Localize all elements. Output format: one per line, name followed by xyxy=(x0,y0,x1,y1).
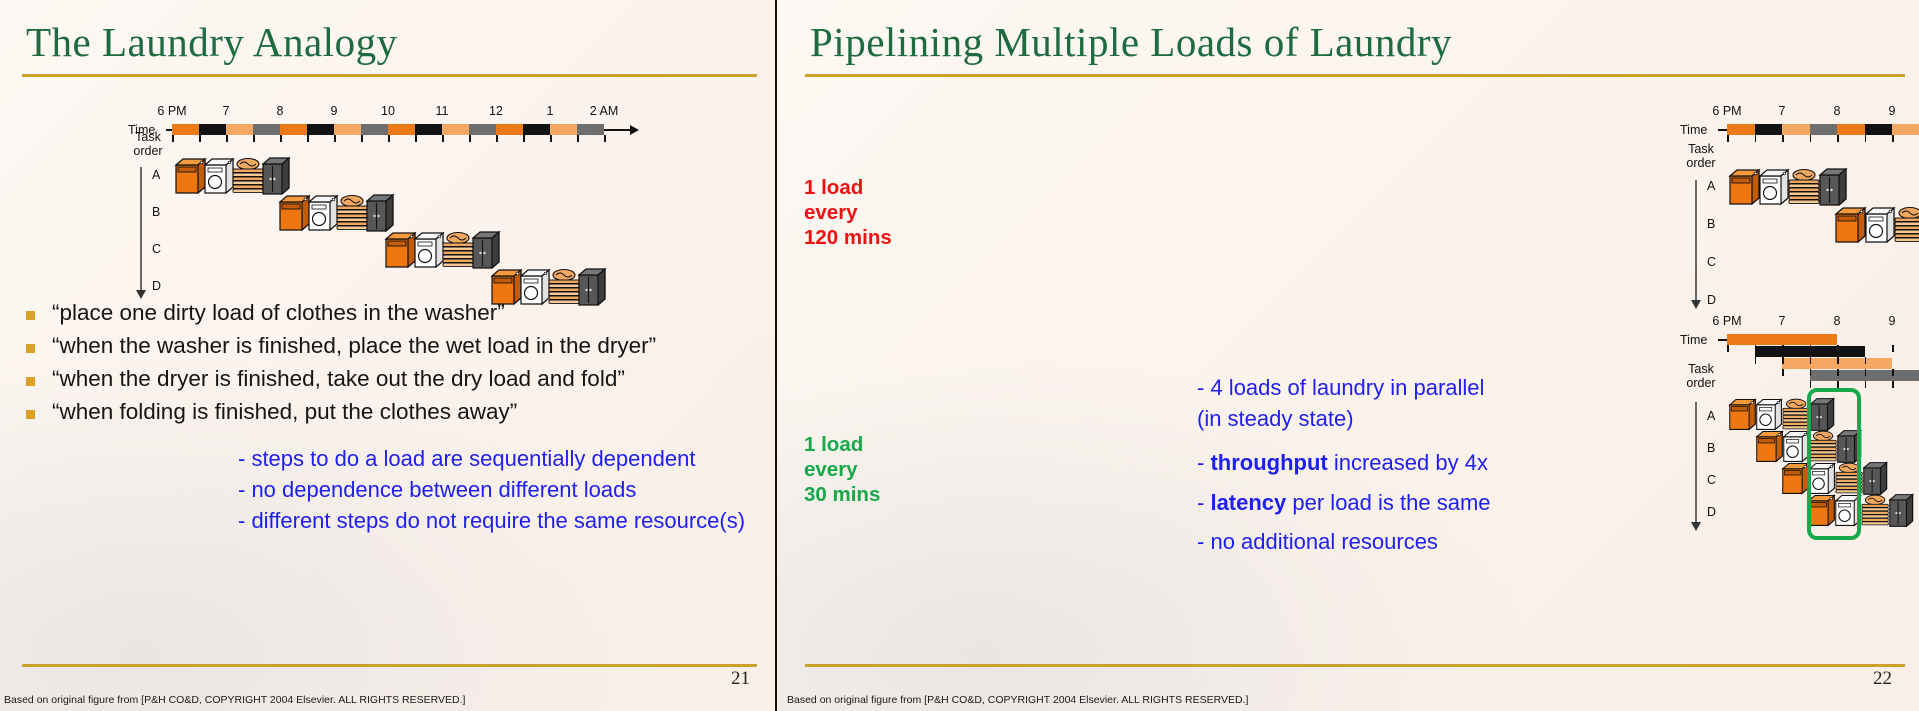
timeline-segment-lightorange xyxy=(550,124,577,135)
note-line: - 4 loads of laundry in parallel xyxy=(1197,372,1491,403)
appliance-folder xyxy=(442,229,474,274)
slide-deck: The Laundry Analogy 6 PM78910111212 AMTi… xyxy=(0,0,1919,711)
time-tick-label: 8 xyxy=(1809,314,1865,328)
timeline-segment-black xyxy=(1865,124,1893,135)
footer-rule xyxy=(805,664,1905,667)
row-label-C: C xyxy=(152,242,161,256)
time-axis-connector xyxy=(1718,129,1727,131)
axis-notch xyxy=(1865,381,1867,388)
axis-notch xyxy=(1727,345,1729,352)
appliance-folder xyxy=(1894,204,1919,249)
timeline-segment-orange xyxy=(280,124,307,135)
row-label-A: A xyxy=(152,168,160,182)
note-text: no additional resources xyxy=(1210,529,1437,554)
timeline-segment-lightorange xyxy=(1782,124,1810,135)
timeline-segment-gray xyxy=(253,124,280,135)
note-line: - different steps do not require the sam… xyxy=(238,505,745,536)
time-tick-label: 1 xyxy=(522,104,578,118)
folded-clothes-icon xyxy=(336,192,368,232)
bullet-text: “when the dryer is finished, take out th… xyxy=(52,366,625,392)
axis-notch xyxy=(226,135,228,142)
axis-notch xyxy=(1782,357,1784,364)
axis-notch xyxy=(1837,345,1839,352)
task-order-axis xyxy=(1695,180,1697,300)
timeline-segment-lightorange xyxy=(334,124,361,135)
timeline-segment-orange xyxy=(1727,124,1755,135)
note-text: (in steady state) xyxy=(1197,406,1354,431)
folded-clothes-icon xyxy=(232,155,264,195)
time-tick-label: 7 xyxy=(1754,314,1810,328)
axis-notch xyxy=(1865,369,1867,376)
axis-notch xyxy=(415,135,417,142)
axis-notch xyxy=(1892,135,1894,142)
bullet-text: “place one dirty load of clothes in the … xyxy=(52,300,505,326)
task-order-axis xyxy=(1695,402,1697,522)
axis-notch xyxy=(280,135,282,142)
time-tick-label: 6 PM xyxy=(1699,314,1755,328)
task-order-line-1: Task xyxy=(1675,362,1727,376)
footnote: Based on original figure from [P&H CO&D,… xyxy=(4,694,465,706)
dryer-icon xyxy=(307,192,339,232)
note-line: (in steady state) xyxy=(1197,403,1491,434)
appliance-folder xyxy=(1788,166,1820,211)
axis-notch xyxy=(1782,345,1784,352)
notes-block: - steps to do a load are sequentially de… xyxy=(238,443,745,537)
task-order-line-2: order xyxy=(1675,156,1727,170)
appliance-dryer xyxy=(413,229,445,274)
axis-notch xyxy=(523,135,525,142)
footer-rule xyxy=(22,664,757,667)
time-axis-label: Time xyxy=(1680,123,1707,137)
timeline-segment-gray xyxy=(577,124,604,135)
note-line: - throughput increased by 4x xyxy=(1197,447,1491,478)
task-order-axis xyxy=(140,167,142,290)
timeline-segment-gray xyxy=(361,124,388,135)
bullet-square-icon xyxy=(26,377,35,386)
closet-icon xyxy=(365,192,395,232)
dryer-icon xyxy=(413,229,445,269)
note-line: - no dependence between different loads xyxy=(238,474,745,505)
axis-notch xyxy=(1727,135,1729,142)
task-order-label: Taskorder xyxy=(1675,362,1727,391)
time-tick-label: 6 PM xyxy=(1699,104,1755,118)
closet-icon xyxy=(261,155,291,195)
timeline-segment-lightorange xyxy=(226,124,253,135)
timeline-segment-orange xyxy=(1727,334,1837,345)
appliance-dryer xyxy=(307,192,339,237)
task-order-arrow-icon xyxy=(136,290,146,299)
axis-notch xyxy=(1892,381,1894,388)
axis-notch xyxy=(307,135,309,142)
time-axis-label: Time xyxy=(1680,333,1707,347)
washer-icon xyxy=(1834,204,1868,244)
time-tick-label: 8 xyxy=(1809,104,1865,118)
dryer-icon xyxy=(1864,204,1896,244)
axis-notch xyxy=(388,135,390,142)
task-order-line-1: Task xyxy=(1675,142,1727,156)
axis-notch xyxy=(1837,369,1839,376)
list-item: “place one dirty load of clothes in the … xyxy=(26,300,656,326)
task-order-line-2: order xyxy=(122,144,174,158)
appliance-dryer xyxy=(1758,166,1790,211)
timeline-segment-orange xyxy=(496,124,523,135)
bullet-text: “when folding is finished, put the cloth… xyxy=(52,399,517,425)
row-label-D: D xyxy=(152,279,161,293)
timeline-segment-black xyxy=(307,124,334,135)
axis-notch xyxy=(1865,357,1867,364)
folded-clothes-icon xyxy=(1788,166,1820,206)
list-item: “when the dryer is finished, take out th… xyxy=(26,366,656,392)
appliance-closet xyxy=(1888,492,1914,532)
timeline-segment-black xyxy=(523,124,550,135)
timeline-segment-orange xyxy=(388,124,415,135)
axis-notch xyxy=(1865,135,1867,142)
washer-icon xyxy=(1728,396,1758,431)
axis-notch xyxy=(1892,345,1894,352)
time-tick-label: 9 xyxy=(1864,104,1919,118)
axis-notch xyxy=(1892,369,1894,376)
row-label-B: B xyxy=(152,205,160,219)
axis-notch xyxy=(1782,135,1784,142)
folded-clothes-icon xyxy=(1894,204,1919,244)
dryer-icon xyxy=(1782,428,1810,463)
axis-notch xyxy=(1782,369,1784,376)
note-text: increased by 4x xyxy=(1328,450,1488,475)
row-label-A: A xyxy=(1707,409,1715,423)
axis-notch xyxy=(1810,369,1812,376)
axis-notch xyxy=(1810,381,1812,388)
note-line: - no additional resources xyxy=(1197,526,1491,557)
row-label-B: B xyxy=(1707,441,1715,455)
folded-clothes-icon xyxy=(442,229,474,269)
axis-notch xyxy=(577,135,579,142)
note-line: - latency per load is the same xyxy=(1197,487,1491,518)
timeline-segment-orange xyxy=(172,124,199,135)
notes-block: - 4 loads of laundry in parallel (in ste… xyxy=(1197,372,1491,557)
washer-icon xyxy=(1728,166,1762,206)
time-tick-label: 7 xyxy=(1754,104,1810,118)
timeline-segment-black xyxy=(415,124,442,135)
axis-notch xyxy=(550,135,552,142)
time-tick-label: 8 xyxy=(252,104,308,118)
dryer-icon xyxy=(1758,166,1790,206)
time-tick-label: 6 PM xyxy=(144,104,200,118)
appliance-washer xyxy=(1834,204,1868,249)
appliance-washer xyxy=(1728,166,1762,211)
appliance-dryer xyxy=(1864,204,1896,249)
note-emphasis: throughput xyxy=(1210,450,1327,475)
note-prefix: - xyxy=(1197,490,1210,515)
list-item: “when the washer is finished, place the … xyxy=(26,333,656,359)
time-tick-label: 12 xyxy=(468,104,524,118)
page-number: 21 xyxy=(731,668,750,690)
timeline-segment-lightorange xyxy=(1892,124,1919,135)
sequential-laundry-diagram: 6 PM78910111212 AMTimeTaskorderA B xyxy=(0,0,775,290)
dryer-icon xyxy=(203,155,235,195)
bullet-list: “place one dirty load of clothes in the … xyxy=(26,300,656,432)
axis-notch xyxy=(1837,381,1839,388)
note-line: - steps to do a load are sequentially de… xyxy=(238,443,745,474)
axis-notch xyxy=(1755,357,1757,364)
timeline-segment-gray xyxy=(1810,124,1838,135)
dryer-icon xyxy=(1755,396,1783,431)
axis-notch xyxy=(1810,135,1812,142)
axis-notch xyxy=(334,135,336,142)
note-prefix: - xyxy=(1197,529,1210,554)
task-order-label: Taskorder xyxy=(122,130,174,159)
task-order-line-2: order xyxy=(1675,376,1727,390)
time-tick-label: 10 xyxy=(360,104,416,118)
row-label-B: B xyxy=(1707,217,1715,231)
axis-notch xyxy=(1755,135,1757,142)
page-number: 22 xyxy=(1873,668,1892,690)
row-label-D: D xyxy=(1707,505,1716,519)
folded-clothes-icon xyxy=(1861,492,1889,527)
axis-notch xyxy=(253,135,255,142)
time-axis-line xyxy=(604,129,630,131)
steady-state-highlight-box xyxy=(1807,388,1861,540)
slide-laundry-analogy: The Laundry Analogy 6 PM78910111212 AMTi… xyxy=(0,0,775,711)
axis-notch xyxy=(604,135,606,142)
time-axis-connector xyxy=(1718,339,1727,341)
axis-notch xyxy=(1755,345,1757,352)
row-label-C: C xyxy=(1707,255,1716,269)
timeline-segment-lightorange xyxy=(442,124,469,135)
timeline-segment-black xyxy=(1755,124,1783,135)
time-tick-label: 9 xyxy=(306,104,362,118)
task-order-arrow-icon xyxy=(1691,522,1701,531)
axis-notch xyxy=(1810,345,1812,352)
row-label-C: C xyxy=(1707,473,1716,487)
axis-notch xyxy=(469,135,471,142)
appliance-washer xyxy=(1728,396,1758,436)
time-axis-arrow-icon xyxy=(630,125,639,135)
bullet-square-icon xyxy=(26,344,35,353)
task-order-label: Taskorder xyxy=(1675,142,1727,171)
time-tick-label: 9 xyxy=(1864,314,1919,328)
timeline-segment-gray xyxy=(469,124,496,135)
note-prefix: - xyxy=(1197,450,1210,475)
bullet-text: “when the washer is finished, place the … xyxy=(52,333,656,359)
closet-icon xyxy=(1818,166,1848,206)
closet-icon xyxy=(471,229,501,269)
axis-notch xyxy=(199,135,201,142)
axis-notch xyxy=(361,135,363,142)
slide-pipelining: Pipelining Multiple Loads of Laundry 1 l… xyxy=(777,0,1919,711)
bullet-square-icon xyxy=(26,311,35,320)
note-emphasis: latency xyxy=(1210,490,1286,515)
note-text: per load is the same xyxy=(1286,490,1490,515)
note-prefix: - xyxy=(1197,375,1210,400)
sequential-laundry-diagram-right: 6 PM78910111212 AMTimeTaskorderA B xyxy=(777,0,1919,300)
note-text: 4 loads of laundry in parallel xyxy=(1210,375,1484,400)
footnote: Based on original figure from [P&H CO&D,… xyxy=(787,694,1248,706)
time-tick-label: 2 AM xyxy=(576,104,632,118)
timeline-segment-black xyxy=(199,124,226,135)
timeline-segment-orange xyxy=(1837,124,1865,135)
appliance-folder xyxy=(336,192,368,237)
bullet-square-icon xyxy=(26,410,35,419)
time-tick-label: 11 xyxy=(414,104,470,118)
closet-icon xyxy=(1888,492,1914,527)
axis-notch xyxy=(1837,135,1839,142)
time-tick-label: 7 xyxy=(198,104,254,118)
axis-notch xyxy=(1810,357,1812,364)
closet-icon xyxy=(1862,460,1888,495)
washer-icon xyxy=(1755,428,1785,463)
appliance-folder xyxy=(232,155,264,200)
axis-notch xyxy=(496,135,498,142)
row-label-A: A xyxy=(1707,179,1715,193)
appliance-folder xyxy=(1861,492,1889,532)
task-order-line-1: Task xyxy=(122,130,174,144)
axis-notch xyxy=(1837,357,1839,364)
axis-notch xyxy=(442,135,444,142)
list-item: “when folding is finished, put the cloth… xyxy=(26,399,656,425)
appliance-dryer xyxy=(203,155,235,200)
